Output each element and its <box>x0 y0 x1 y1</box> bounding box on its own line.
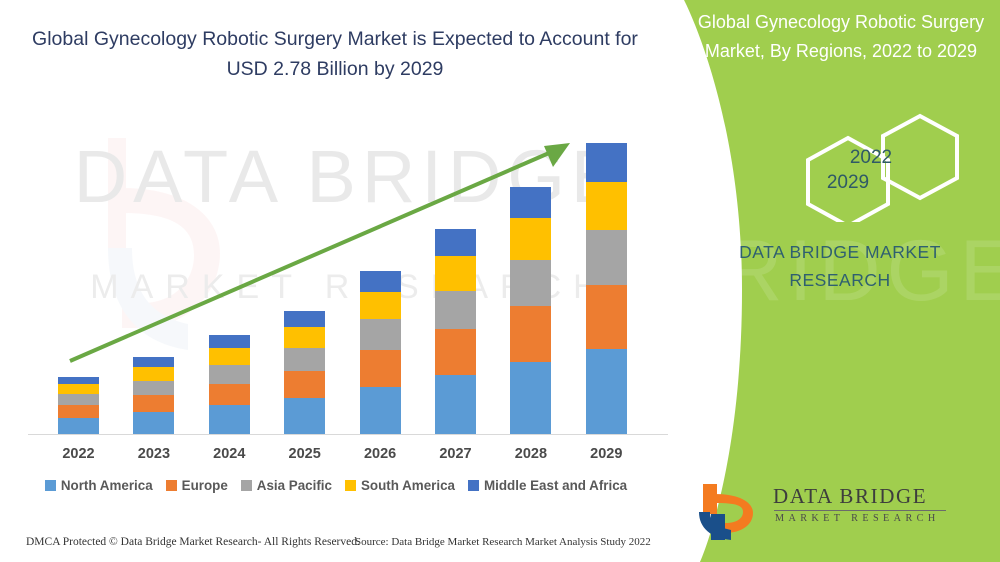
panel-brand-text: DATA BRIDGE MARKET RESEARCH <box>680 238 1000 294</box>
legend-item-asia-pacific[interactable]: Asia Pacific <box>241 478 332 493</box>
panel-title: Global Gynecology Robotic Surgery Market… <box>682 8 1000 66</box>
footer-copyright: DMCA Protected © Data Bridge Market Rese… <box>26 536 360 548</box>
legend-item-south-america[interactable]: South America <box>345 478 455 493</box>
hexagon-2029-label: 2029 <box>770 172 926 194</box>
dbmr-logo-divider <box>774 510 946 511</box>
legend-swatch-icon <box>241 480 252 491</box>
legend-label: North America <box>61 478 153 493</box>
legend-label: South America <box>361 478 455 493</box>
legend-swatch-icon <box>45 480 56 491</box>
legend-swatch-icon <box>345 480 356 491</box>
legend-label: Middle East and Africa <box>484 478 627 493</box>
legend-item-north-america[interactable]: North America <box>45 478 153 493</box>
growth-arrow-icon <box>0 0 700 470</box>
dbmr-logo-title: DATA BRIDGE <box>773 484 927 509</box>
green-panel-content: Global Gynecology Robotic Surgery Market… <box>660 0 1000 562</box>
chart-plot-area: 20222023202420252026202720282029 <box>0 0 700 470</box>
legend-label: Europe <box>182 478 228 493</box>
footer-source: Source: Data Bridge Market Research Mark… <box>355 536 651 548</box>
legend-item-middle-east-and-africa[interactable]: Middle East and Africa <box>468 478 627 493</box>
hexagon-2022-label: 2022 <box>833 147 909 169</box>
footer: DMCA Protected © Data Bridge Market Rese… <box>0 530 700 562</box>
dbmr-logo-subtitle: MARKET RESEARCH <box>775 513 940 524</box>
dbmr-logo-mark-icon <box>695 480 765 542</box>
panel-brand-line1: DATA BRIDGE MARKET <box>680 238 1000 266</box>
legend-item-europe[interactable]: Europe <box>166 478 228 493</box>
dbmr-logo: DATA BRIDGE MARKET RESEARCH <box>695 480 985 542</box>
panel-brand-line2: RESEARCH <box>680 266 1000 294</box>
infographic-root: DATA BRIDGE MARKET RESEARCH Global Gynec… <box>0 0 1000 562</box>
legend-label: Asia Pacific <box>257 478 332 493</box>
hexagon-group: 2022 2029 <box>770 112 1000 222</box>
chart-legend: North AmericaEuropeAsia PacificSouth Ame… <box>0 478 672 493</box>
legend-swatch-icon <box>468 480 479 491</box>
legend-swatch-icon <box>166 480 177 491</box>
